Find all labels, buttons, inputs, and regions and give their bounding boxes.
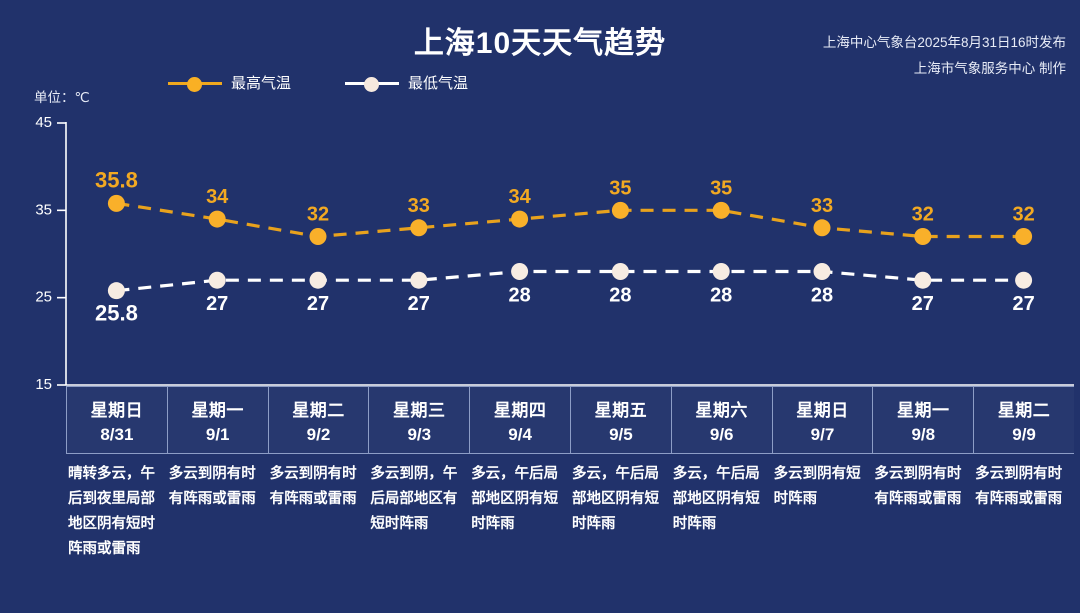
- low-temp-point[interactable]: [814, 263, 831, 280]
- day-cell[interactable]: 星期五9/5: [571, 387, 672, 453]
- y-axis-tick-label: 15: [35, 376, 52, 393]
- low-temp-line: [116, 272, 1023, 291]
- day-cell[interactable]: 星期三9/3: [369, 387, 470, 453]
- high-temp-point[interactable]: [511, 211, 528, 228]
- high-temp-point[interactable]: [814, 219, 831, 236]
- day-date: 9/5: [609, 425, 633, 445]
- day-header-row: 星期日8/31星期一9/1星期二9/2星期三9/3星期四9/4星期五9/5星期六…: [66, 386, 1074, 454]
- high-temp-value-label: 32: [912, 204, 934, 226]
- low-temp-point[interactable]: [914, 272, 931, 289]
- day-weekday: 星期二: [292, 396, 345, 421]
- high-temp-point[interactable]: [1015, 228, 1032, 245]
- day-cell[interactable]: 星期日9/7: [773, 387, 874, 453]
- day-description: 多云到阴有时有阵雨或雷雨: [268, 462, 369, 612]
- day-weekday: 星期一: [191, 396, 244, 421]
- weather-trend-infographic: 上海10天天气趋势 上海中心气象台2025年8月31日16时发布 上海市气象服务…: [0, 0, 1080, 613]
- low-temp-value-label: 28: [609, 284, 631, 306]
- day-cell[interactable]: 星期一9/1: [168, 387, 269, 453]
- day-weekday: 星期六: [695, 396, 748, 421]
- day-date: 9/8: [911, 425, 935, 445]
- day-date: 9/9: [1012, 425, 1036, 445]
- day-weekday: 星期五: [595, 396, 648, 421]
- day-description: 多云到阴有时有阵雨或雷雨: [973, 462, 1074, 612]
- high-temp-point[interactable]: [914, 228, 931, 245]
- low-temp-point[interactable]: [310, 272, 327, 289]
- day-date: 9/2: [307, 425, 331, 445]
- low-temp-value-label: 27: [408, 293, 430, 315]
- low-temp-value-label: 27: [307, 293, 329, 315]
- low-temp-value-label: 28: [710, 284, 732, 306]
- high-temp-point[interactable]: [410, 219, 427, 236]
- low-temp-value-label: 25.8: [95, 301, 138, 326]
- day-description: 晴转多云，午后到夜里局部地区阴有短时阵雨或雷雨: [66, 462, 167, 612]
- high-temp-point[interactable]: [713, 202, 730, 219]
- y-axis-tick-label: 45: [35, 114, 52, 131]
- low-temp-point[interactable]: [511, 263, 528, 280]
- day-date: 9/7: [811, 425, 835, 445]
- high-temp-line: [116, 203, 1023, 236]
- day-weekday: 星期一: [897, 396, 950, 421]
- day-weekday: 星期日: [796, 396, 849, 421]
- day-weekday: 星期日: [91, 396, 144, 421]
- high-temp-point[interactable]: [612, 202, 629, 219]
- day-cell[interactable]: 星期日8/31: [66, 387, 168, 453]
- day-date: 9/3: [407, 425, 431, 445]
- high-temp-value-label: 32: [307, 204, 329, 226]
- day-cell[interactable]: 星期四9/4: [470, 387, 571, 453]
- high-temp-value-label: 35.8: [95, 167, 138, 192]
- day-description: 多云，午后局部地区阴有短时阵雨: [671, 462, 772, 612]
- day-description-row: 晴转多云，午后到夜里局部地区阴有短时阵雨或雷雨多云到阴有时有阵雨或雷雨多云到阴有…: [66, 462, 1074, 612]
- high-temp-value-label: 33: [811, 195, 833, 217]
- day-date: 9/4: [508, 425, 532, 445]
- chart-series: 35.834323334353533323225.827272728282828…: [95, 167, 1035, 325]
- low-temp-value-label: 27: [206, 293, 228, 315]
- low-temp-value-label: 28: [811, 284, 833, 306]
- low-temp-value-label: 27: [1012, 293, 1034, 315]
- day-date: 8/31: [100, 425, 133, 445]
- low-temp-point[interactable]: [108, 282, 125, 299]
- day-description: 多云，午后局部地区阴有短时阵雨: [469, 462, 570, 612]
- low-temp-value-label: 27: [912, 293, 934, 315]
- y-axis-tick-label: 35: [35, 201, 52, 218]
- day-cell[interactable]: 星期二9/2: [269, 387, 370, 453]
- low-temp-point[interactable]: [713, 263, 730, 280]
- high-temp-point[interactable]: [108, 195, 125, 212]
- day-cell[interactable]: 星期一9/8: [873, 387, 974, 453]
- low-temp-point[interactable]: [1015, 272, 1032, 289]
- day-description: 多云到阴有时有阵雨或雷雨: [167, 462, 268, 612]
- high-temp-value-label: 33: [408, 195, 430, 217]
- low-temp-value-label: 28: [508, 284, 530, 306]
- day-description: 多云到阴有时有阵雨或雷雨: [872, 462, 973, 612]
- day-date: 9/6: [710, 425, 734, 445]
- high-temp-value-label: 34: [508, 186, 531, 208]
- day-weekday: 星期三: [393, 396, 446, 421]
- low-temp-point[interactable]: [612, 263, 629, 280]
- low-temp-point[interactable]: [209, 272, 226, 289]
- day-date: 9/1: [206, 425, 230, 445]
- day-description: 多云，午后局部地区阴有短时阵雨: [570, 462, 671, 612]
- day-cell[interactable]: 星期二9/9: [974, 387, 1074, 453]
- high-temp-value-label: 35: [710, 177, 732, 199]
- high-temp-value-label: 32: [1012, 204, 1034, 226]
- high-temp-point[interactable]: [310, 228, 327, 245]
- day-description: 多云到阴，午后局部地区有短时阵雨: [368, 462, 469, 612]
- y-axis: 15253545: [35, 114, 1074, 393]
- low-temp-point[interactable]: [410, 272, 427, 289]
- day-weekday: 星期二: [998, 396, 1051, 421]
- day-description: 多云到阴有短时阵雨: [772, 462, 873, 612]
- day-cell[interactable]: 星期六9/6: [672, 387, 773, 453]
- day-weekday: 星期四: [494, 396, 547, 421]
- high-temp-value-label: 34: [206, 186, 229, 208]
- high-temp-value-label: 35: [609, 177, 631, 199]
- high-temp-point[interactable]: [209, 211, 226, 228]
- y-axis-tick-label: 25: [35, 289, 52, 306]
